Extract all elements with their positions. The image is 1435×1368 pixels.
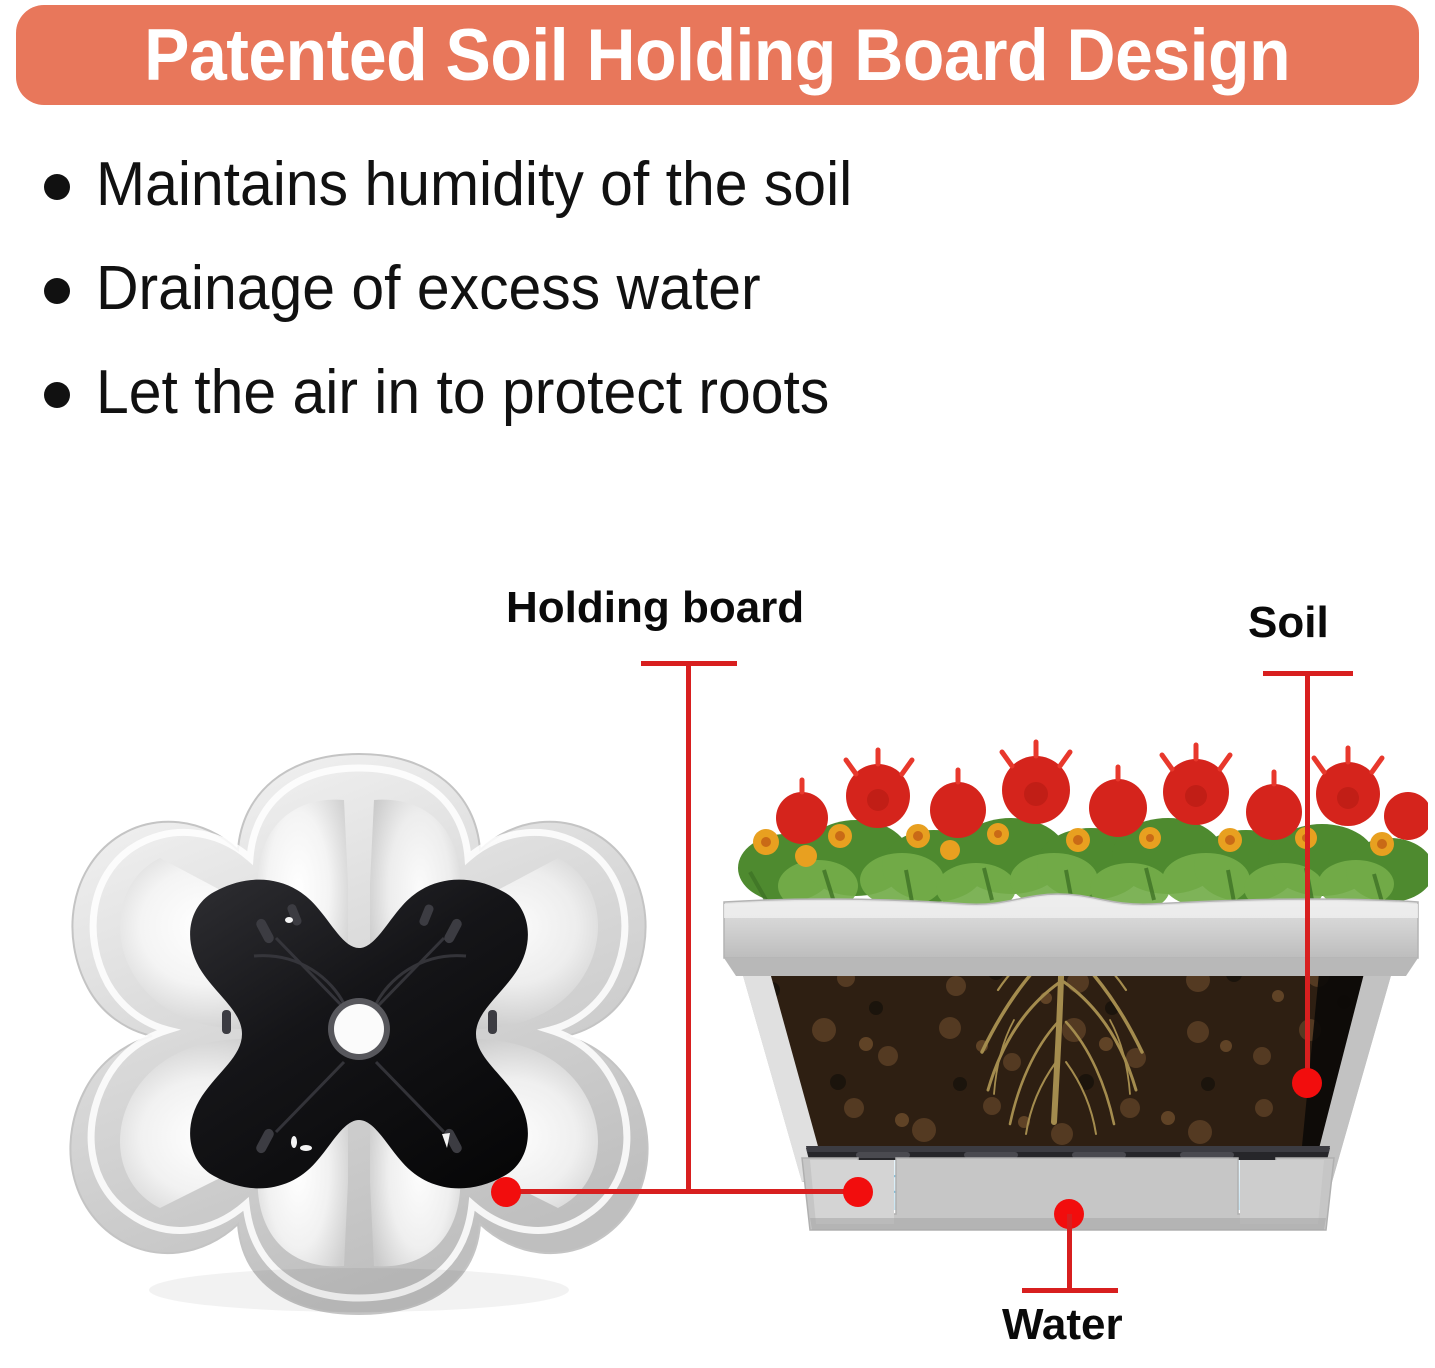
list-item: Maintains humidity of the soil [44,152,1144,256]
bullet-icon [44,174,70,200]
leader-tbar-water [1022,1288,1118,1293]
feature-text: Maintains humidity of the soil [96,152,852,217]
leader-stem-holding-board [686,661,691,1193]
leader-dot-soil [1292,1068,1322,1098]
list-item: Drainage of excess water [44,256,1144,360]
leader-branch-holding-board [505,1189,860,1194]
pot-rim-underside [724,958,1418,976]
leader-dot-holding-board-topview [491,1177,521,1207]
callout-label-water: Water [1002,1300,1123,1350]
page-title: Patented Soil Holding Board Design [145,19,1291,92]
leader-dot-holding-board-crosssection [843,1177,873,1207]
bullet-icon [44,278,70,304]
planter-shadow [149,1268,569,1312]
pot-base-right-foot [1240,1160,1324,1224]
list-item: Let the air in to protect roots [44,360,1144,464]
bullet-icon [44,382,70,408]
feature-text: Let the air in to protect roots [96,360,829,425]
holding-board-plate-edge [806,1146,1330,1152]
feature-list: Maintains humidity of the soil Drainage … [44,152,1144,464]
infographic-page: Patented Soil Holding Board Design Maint… [0,0,1435,1368]
leader-stem-water [1067,1214,1072,1292]
quatrefoil-planter-top-view [44,742,674,1322]
center-hole [334,1004,384,1054]
leader-stem-soil [1305,671,1310,1083]
feature-text: Drainage of excess water [96,256,761,321]
callout-label-holding-board: Holding board [506,583,804,633]
header-banner: Patented Soil Holding Board Design [16,5,1419,105]
callout-label-soil: Soil [1248,598,1329,648]
